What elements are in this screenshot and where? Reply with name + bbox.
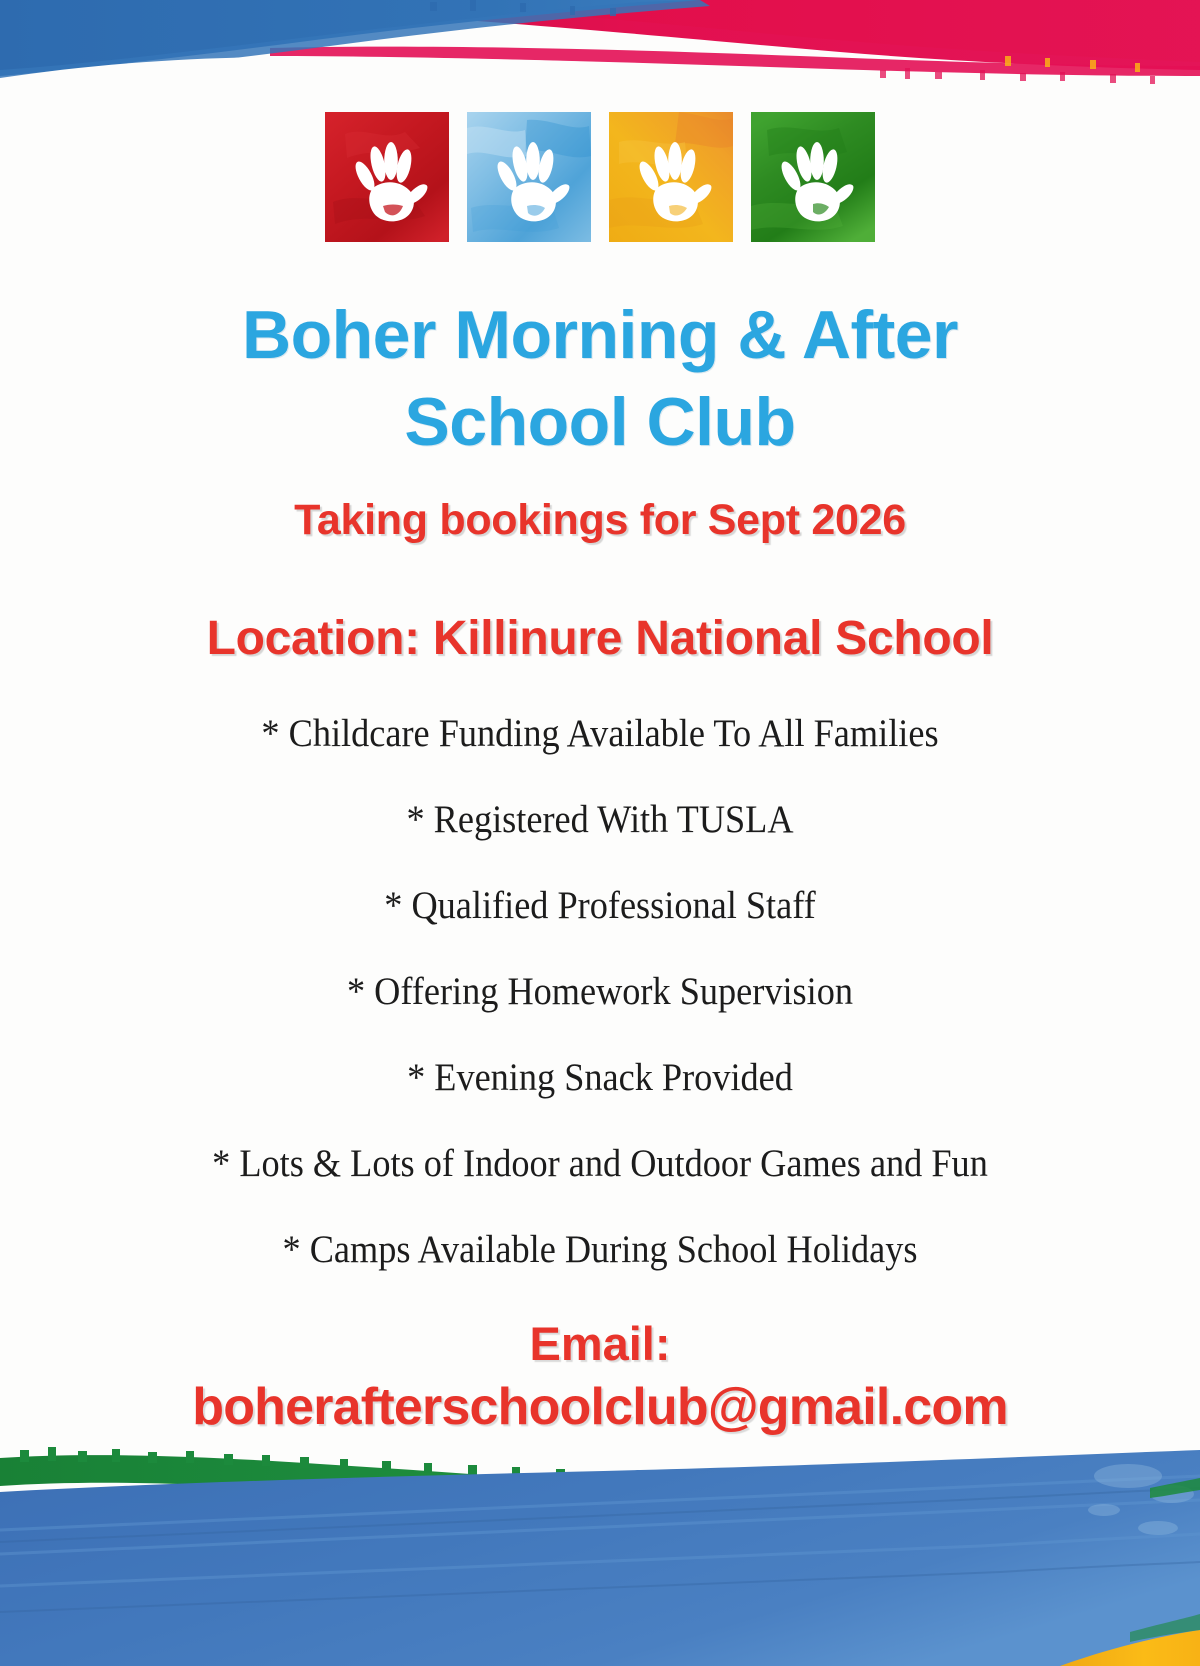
handprint-tile-yellow [609, 112, 733, 242]
email-address[interactable]: boherafterschoolclub@gmail.com [0, 1377, 1200, 1437]
bottom-decorative-paint-border [0, 1436, 1200, 1666]
handprint-tile-blue [467, 112, 591, 242]
page-title-line-2: School Club [404, 384, 795, 460]
top-border-artwork [0, 0, 1200, 115]
list-item: * Registered With TUSLA [42, 800, 1158, 839]
list-item: * Qualified Professional Staff [42, 886, 1158, 925]
list-item: * Offering Homework Supervision [42, 972, 1158, 1011]
features-list: * Childcare Funding Available To All Fam… [0, 714, 1200, 1269]
list-item: * Childcare Funding Available To All Fam… [42, 714, 1158, 753]
list-item: * Camps Available During School Holidays [42, 1230, 1158, 1269]
handprint-green-icon [751, 112, 875, 242]
list-item: * Lots & Lots of Indoor and Outdoor Game… [42, 1144, 1158, 1183]
poster: Boher Morning & After School Club Taking… [0, 0, 1200, 1666]
handprint-logo-row [0, 112, 1200, 242]
email-label: Email: [0, 1316, 1200, 1371]
page-title-line-1: Boher Morning & After [242, 297, 958, 373]
list-item: * Evening Snack Provided [42, 1058, 1158, 1097]
bottom-border-artwork [0, 1436, 1200, 1666]
handprint-red-icon [325, 112, 449, 242]
handprint-yellow-icon [609, 112, 733, 242]
location-heading: Location: Killinure National School [0, 611, 1200, 666]
booking-subheading: Taking bookings for Sept 2026 [0, 496, 1200, 545]
handprint-blue-icon [467, 112, 591, 242]
page-title: Boher Morning & After School Club [210, 292, 990, 466]
handprint-tile-green [751, 112, 875, 242]
poster-content: Boher Morning & After School Club Taking… [0, 292, 1200, 1437]
handprint-tile-red [325, 112, 449, 242]
top-decorative-paint-border [0, 0, 1200, 115]
